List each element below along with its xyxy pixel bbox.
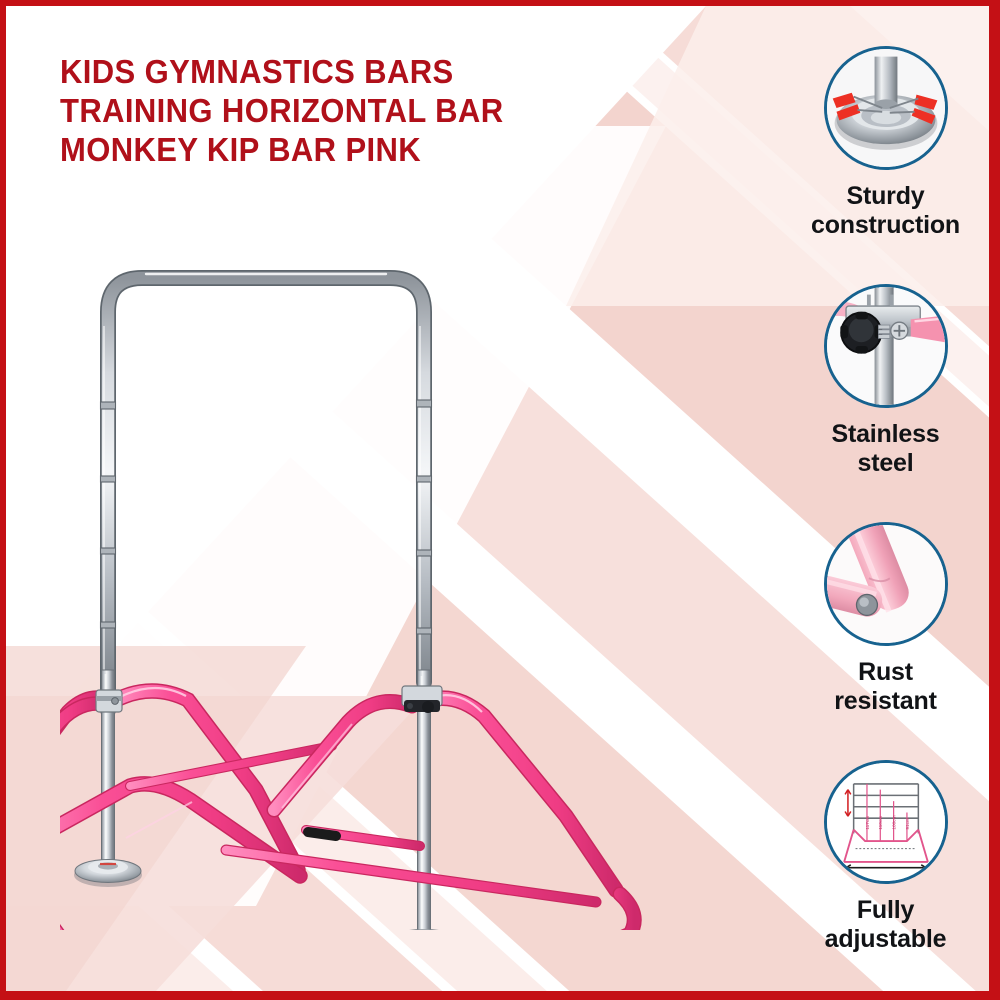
product-image: [60, 230, 760, 930]
base-plate-right: [386, 930, 462, 931]
knob: [840, 312, 882, 354]
gymnastics-bar-illustration: [60, 230, 760, 930]
page-title: KIDS GYMNASTICS BARS TRAINING HORIZONTAL…: [60, 52, 700, 169]
svg-text:100cm: 100cm: [891, 815, 897, 829]
clamp-left: [96, 690, 122, 712]
pink-tube-joint-photo-icon: [827, 525, 945, 643]
border-left: [0, 0, 6, 1000]
title-line-1: KIDS GYMNASTICS BARS: [60, 52, 662, 91]
feature-item-sturdy-construction[interactable]: Sturdy construction: [782, 46, 989, 240]
svg-text:117cm: 117cm: [864, 816, 870, 830]
base-plate-photo-icon: [827, 49, 945, 167]
height-diagram-icon: 117cm 110cm 100cm 91cm: [827, 763, 945, 881]
caption-line-2: steel: [782, 449, 989, 478]
pink-leg-assembly-left: [60, 688, 332, 930]
clamp-right: [402, 686, 442, 713]
caption-line-1: Sturdy: [782, 182, 989, 211]
base-plate-left: [74, 860, 142, 888]
border-top: [0, 0, 1000, 6]
caption-line-2: construction: [782, 211, 989, 240]
feature-item-rust-resistant[interactable]: Rust resistant: [782, 522, 989, 716]
title-line-2: TRAINING HORIZONTAL BAR: [60, 91, 662, 130]
svg-text:91cm: 91cm: [904, 818, 910, 830]
feature-caption: Fully adjustable: [782, 896, 989, 954]
fully-adjustable-photo: 117cm 110cm 100cm 91cm: [824, 760, 948, 884]
caption-line-1: Rust: [782, 658, 989, 687]
caption-line-2: adjustable: [782, 925, 989, 954]
caption-line-1: Stainless: [782, 420, 989, 449]
product-marketing-card: KIDS GYMNASTICS BARS TRAINING HORIZONTAL…: [0, 0, 1000, 1000]
sturdy-construction-photo: [824, 46, 948, 170]
feature-caption: Rust resistant: [782, 658, 989, 716]
border-right: [989, 0, 1000, 1000]
feature-caption: Sturdy construction: [782, 182, 989, 240]
rust-resistant-photo: [824, 522, 948, 646]
border-bottom: [0, 991, 1000, 1000]
feature-list: Sturdy construction: [782, 46, 989, 976]
stainless-steel-photo: [824, 284, 948, 408]
svg-text:110cm: 110cm: [878, 816, 884, 830]
feature-caption: Stainless steel: [782, 420, 989, 478]
feature-item-fully-adjustable[interactable]: 117cm 110cm 100cm 91cm: [782, 760, 989, 954]
feature-item-stainless-steel[interactable]: Stainless steel: [782, 284, 989, 478]
title-line-3: MONKEY KIP BAR PINK: [60, 130, 662, 169]
clamp-knob-photo-icon: [827, 287, 945, 405]
caption-line-1: Fully: [782, 896, 989, 925]
caption-line-2: resistant: [782, 687, 989, 716]
